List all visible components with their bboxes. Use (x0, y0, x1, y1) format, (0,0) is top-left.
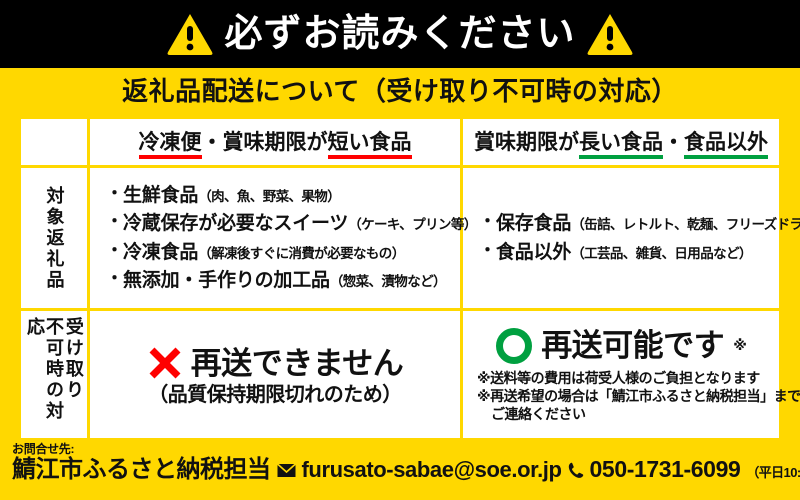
list-item: ・保存食品（缶詰、レトルト、乾麺、フリーズドライ） (479, 211, 771, 236)
envelope-icon (277, 463, 296, 478)
note-line: ※再送希望の場合は「鯖江市ふるさと納税担当」まで (477, 387, 779, 405)
bullet-dot: ・ (106, 269, 123, 288)
column-header-right-sep: ・ (663, 131, 684, 154)
cell-left-target-items: ・生鮮食品（肉、魚、野菜、果物） ・冷蔵保存が必要なスイーツ（ケーキ、プリン等）… (90, 168, 460, 308)
column-header-right: 賞味期限が長い食品・食品以外 (463, 119, 779, 165)
table-corner-cell (21, 119, 87, 165)
cell-right-result: 再送可能です※ ※送料等の費用は荷受人様のご負担となります ※再送希望の場合は「… (463, 311, 779, 439)
row-label-undeliverable-response: 受け取り 不可時の対応 (21, 311, 87, 439)
footer-hours: （平日10:00-17:00対応） (746, 466, 800, 480)
column-header-left-part2: 賞味期限が (223, 131, 328, 154)
list-item-main: 冷蔵保存が必要なスイーツ (123, 213, 348, 234)
table-row: 対象返礼品 ・生鮮食品（肉、魚、野菜、果物） ・冷蔵保存が必要なスイーツ（ケーキ… (21, 168, 779, 308)
list-item-sub: （惣菜、漬物など） (330, 274, 446, 289)
footer-phone[interactable]: 050-1731-6099 (590, 457, 741, 482)
list-item-main: 無添加・手作りの加工品 (123, 270, 330, 291)
list-item: ・無添加・手作りの加工品（惣菜、漬物など） (106, 268, 452, 293)
result-asterisk: ※ (733, 337, 747, 354)
column-header-right-part3: 食品以外 (684, 131, 768, 159)
x-mark-icon (147, 345, 183, 381)
footer-contact-row: 鯖江市ふるさと納税担当 furusato-sabae@soe.or.jp 050… (12, 457, 788, 483)
result-notes: ※送料等の費用は荷受人様のご負担となります ※再送希望の場合は「鯖江市ふるさと納… (463, 369, 779, 424)
column-header-right-part2: 長い食品 (579, 131, 663, 159)
list-item: ・生鮮食品（肉、魚、野菜、果物） (106, 183, 452, 208)
page-title: 必ずお読みください (224, 15, 575, 53)
result-headline: 再送可能です (541, 330, 724, 361)
subtitle-text: 返礼品配送について（受け取り不可時の対応） (122, 78, 678, 104)
result-headline: 再送できません (191, 348, 404, 379)
list-item-sub: （ケーキ、プリン等） (348, 217, 476, 232)
row-label-column: 対象返礼品 (45, 186, 64, 291)
cell-left-result: 再送できません （品質保持期限切れのため） (90, 311, 460, 439)
warning-triangle-icon (166, 12, 214, 56)
list-item-main: 冷凍食品 (123, 242, 198, 263)
row-label-column: 不可時の対応 (25, 317, 63, 439)
list-item-main: 生鮮食品 (123, 185, 198, 206)
footer-email[interactable]: furusato-sabae@soe.or.jp (302, 458, 562, 482)
footer-contact-bar: お問合せ先: 鯖江市ふるさと納税担当 furusato-sabae@soe.or… (0, 438, 800, 500)
info-table: 冷凍便・賞味期限が短い食品 賞味期限が長い食品・食品以外 対象返礼品 (18, 116, 782, 436)
note-continuation: ご連絡ください (477, 405, 779, 423)
list-item: ・冷蔵保存が必要なスイーツ（ケーキ、プリン等） (106, 211, 452, 236)
bullet-dot: ・ (479, 212, 496, 231)
poster-root: 必ずお読みください 返礼品配送について（受け取り不可時の対応） 冷凍便・賞味期 (0, 0, 800, 500)
list-item: ・冷凍食品（解凍後すぐに消費が必要なもの） (106, 240, 452, 265)
column-header-right-part1: 賞味期限が (474, 131, 579, 154)
phone-icon (568, 462, 584, 479)
list-item-sub: （解凍後すぐに消費が必要なもの） (198, 246, 404, 261)
warning-triangle-icon (586, 12, 634, 56)
result-subline: （品質保持期限切れのため） (90, 385, 460, 405)
column-header-left-part3: 短い食品 (328, 131, 412, 159)
column-header-left: 冷凍便・賞味期限が短い食品 (90, 119, 460, 165)
list-item-sub: （工芸品、雑貨、日用品など） (571, 246, 752, 261)
table-row: 受け取り 不可時の対応 再送できません （品質保持期限切れのため） (21, 311, 779, 439)
column-header-left-part1: 冷凍便 (139, 131, 202, 159)
bullet-dot: ・ (106, 212, 123, 231)
footer-label: お問合せ先: (12, 442, 788, 456)
subtitle-band: 返礼品配送について（受け取り不可時の対応） (0, 68, 800, 114)
note-line: ※送料等の費用は荷受人様のご負担となります (477, 369, 779, 387)
table-header-row: 冷凍便・賞味期限が短い食品 賞味期限が長い食品・食品以外 (21, 119, 779, 165)
bullet-dot: ・ (106, 241, 123, 260)
bullet-dot: ・ (479, 241, 496, 260)
header-bar: 必ずお読みください (0, 0, 800, 68)
cell-right-target-items: ・保存食品（缶詰、レトルト、乾麺、フリーズドライ） ・食品以外（工芸品、雑貨、日… (463, 168, 779, 308)
column-header-left-sep: ・ (202, 131, 223, 154)
circle-mark-icon (495, 327, 533, 365)
list-item-main: 保存食品 (496, 213, 571, 234)
bullet-dot: ・ (106, 184, 123, 203)
list-item-main: 食品以外 (496, 242, 571, 263)
row-label-column: 受け取り (64, 317, 83, 401)
list-item: ・食品以外（工芸品、雑貨、日用品など） (479, 240, 771, 265)
row-label-target-items: 対象返礼品 (21, 168, 87, 308)
list-item-sub: （缶詰、レトルト、乾麺、フリーズドライ） (571, 217, 800, 232)
footer-organization: 鯖江市ふるさと納税担当 (12, 457, 271, 483)
list-item-sub: （肉、魚、野菜、果物） (198, 189, 340, 204)
